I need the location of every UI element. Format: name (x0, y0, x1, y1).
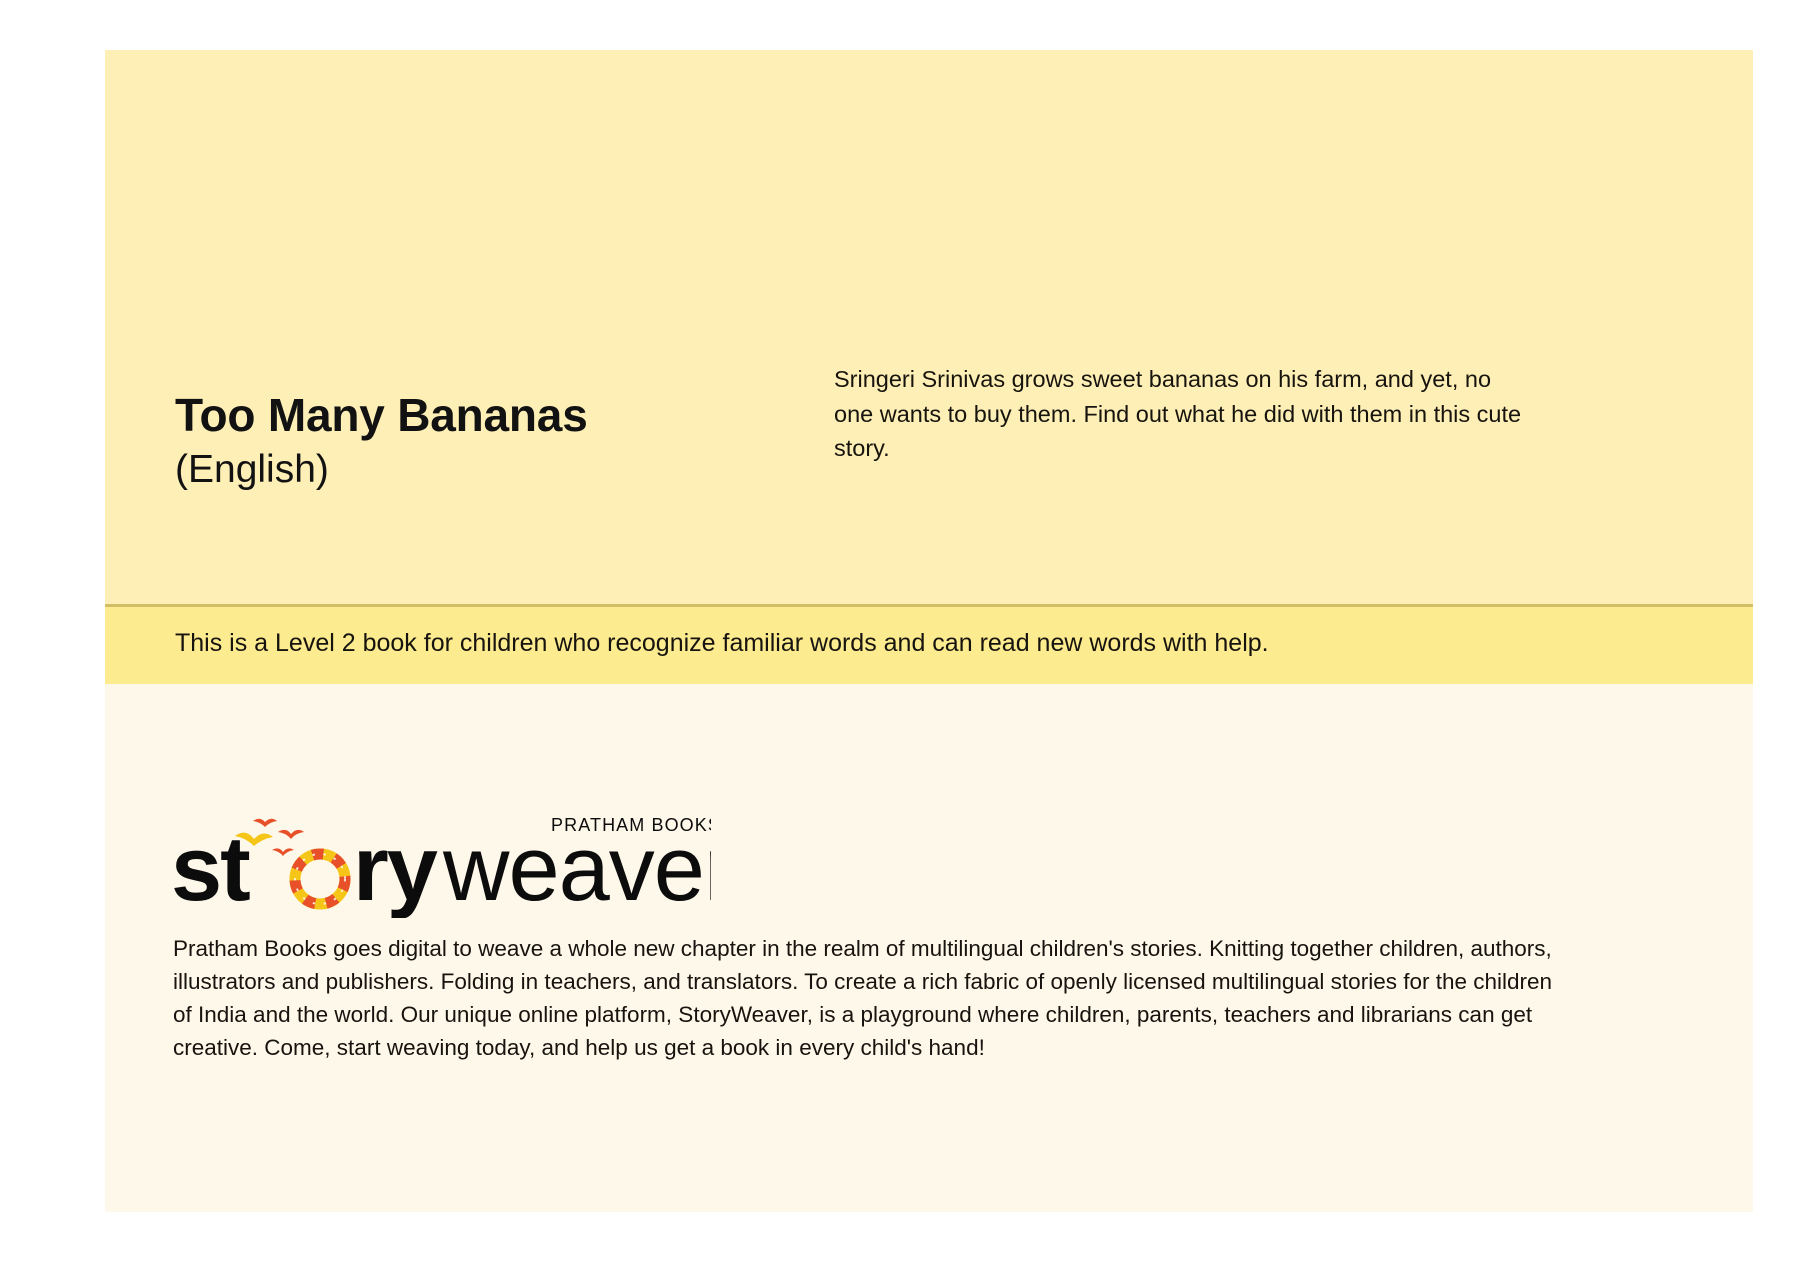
logo-text-ry: ry (353, 818, 438, 918)
publisher-tag-text: PRATHAM BOOKS (551, 815, 711, 835)
storyweaver-logo: st ry weaver PRATHAM BOOKS (171, 808, 711, 918)
cover-sheet: Too Many Bananas (English) Sringeri Srin… (105, 50, 1753, 1212)
woven-ring-o-icon (295, 854, 345, 904)
publisher-blurb: Pratham Books goes digital to weave a wh… (173, 933, 1563, 1064)
reading-level-band: This is a Level 2 book for children who … (105, 607, 1753, 684)
footer-section: st ry weaver PRATHAM BOOKS Pratham Boo (105, 684, 1753, 1212)
hero-content: Too Many Bananas (English) Sringeri Srin… (105, 50, 1753, 604)
book-synopsis: Sringeri Srinivas grows sweet bananas on… (834, 362, 1524, 466)
hero-section: Too Many Bananas (English) Sringeri Srin… (105, 50, 1753, 604)
logo-text-st: st (171, 818, 250, 918)
book-cover-page: Too Many Bananas (English) Sringeri Srin… (0, 0, 1800, 1272)
book-language-label: (English) (175, 448, 329, 493)
reading-level-text: This is a Level 2 book for children who … (175, 629, 1269, 658)
page-title: Too Many Bananas (175, 390, 588, 442)
